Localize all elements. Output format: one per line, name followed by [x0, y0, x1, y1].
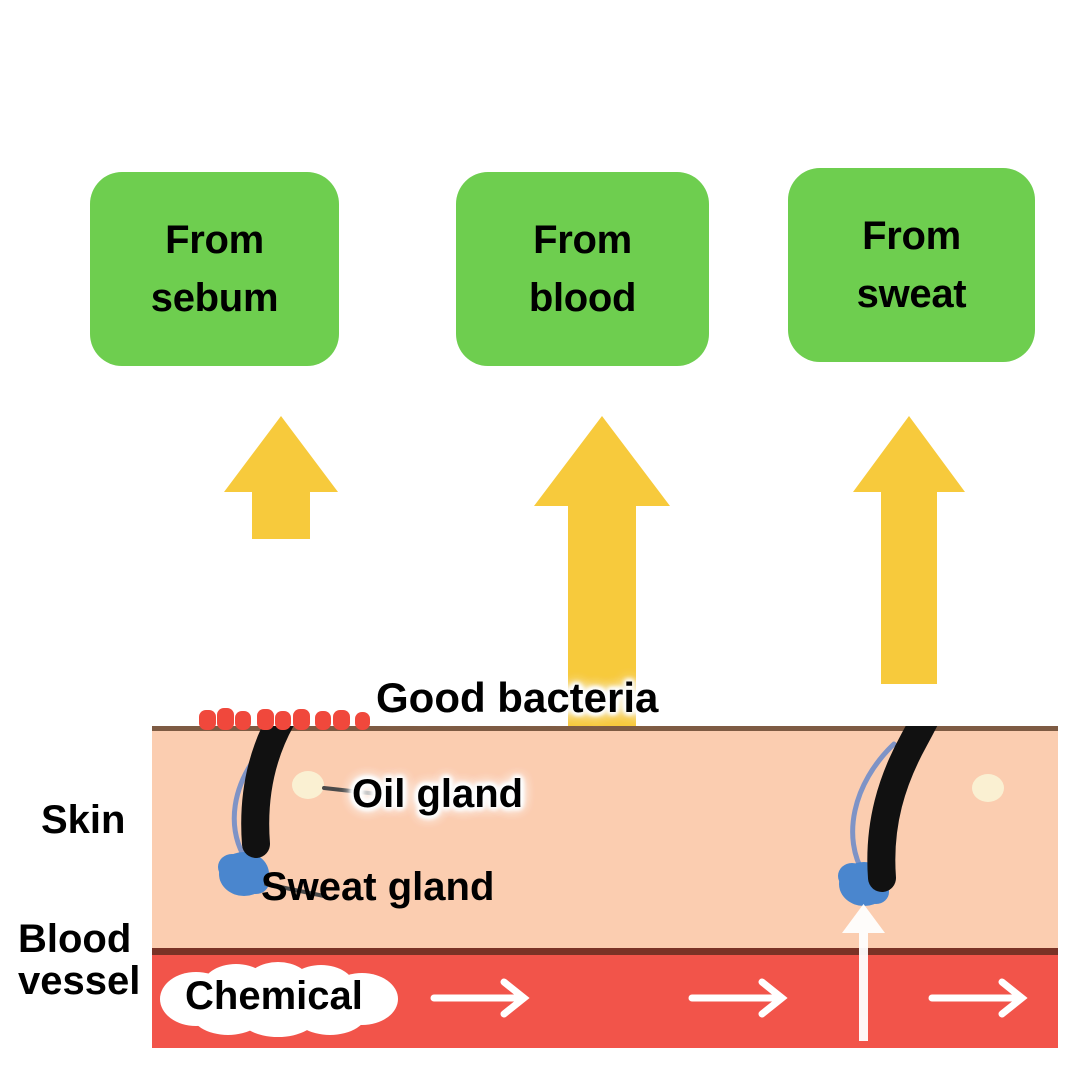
label-oil-gland: Oil gland [352, 773, 523, 815]
skin-layer [152, 726, 1058, 948]
source-box-blood[interactable]: From blood [456, 172, 709, 366]
source-box-sebum[interactable]: From sebum [90, 172, 339, 366]
label-skin: Skin [41, 799, 125, 841]
label-blood-vessel-line1: Blood [18, 918, 140, 960]
label-good-bacteria: Good bacteria [376, 676, 658, 720]
sweat-route-arrow-icon [851, 414, 967, 686]
source-box-blood-line2: blood [529, 269, 636, 327]
source-box-sweat-line2: sweat [857, 265, 967, 323]
diagram-canvas: From sebum From blood From sweat [0, 0, 1080, 1080]
label-blood-vessel-line2: vessel [18, 960, 140, 1002]
good-bacteria-colony [195, 700, 395, 734]
source-box-sweat[interactable]: From sweat [788, 168, 1035, 362]
label-blood-vessel: Blood vessel [18, 918, 140, 1002]
source-box-sebum-line2: sebum [151, 269, 278, 327]
source-box-blood-line1: From [533, 211, 632, 269]
source-box-sweat-line1: From [862, 207, 961, 265]
label-sweat-gland: Sweat gland [261, 866, 494, 908]
label-chemical: Chemical [185, 975, 363, 1017]
source-box-sebum-line1: From [165, 211, 264, 269]
sebum-route-arrow-icon [222, 414, 340, 541]
